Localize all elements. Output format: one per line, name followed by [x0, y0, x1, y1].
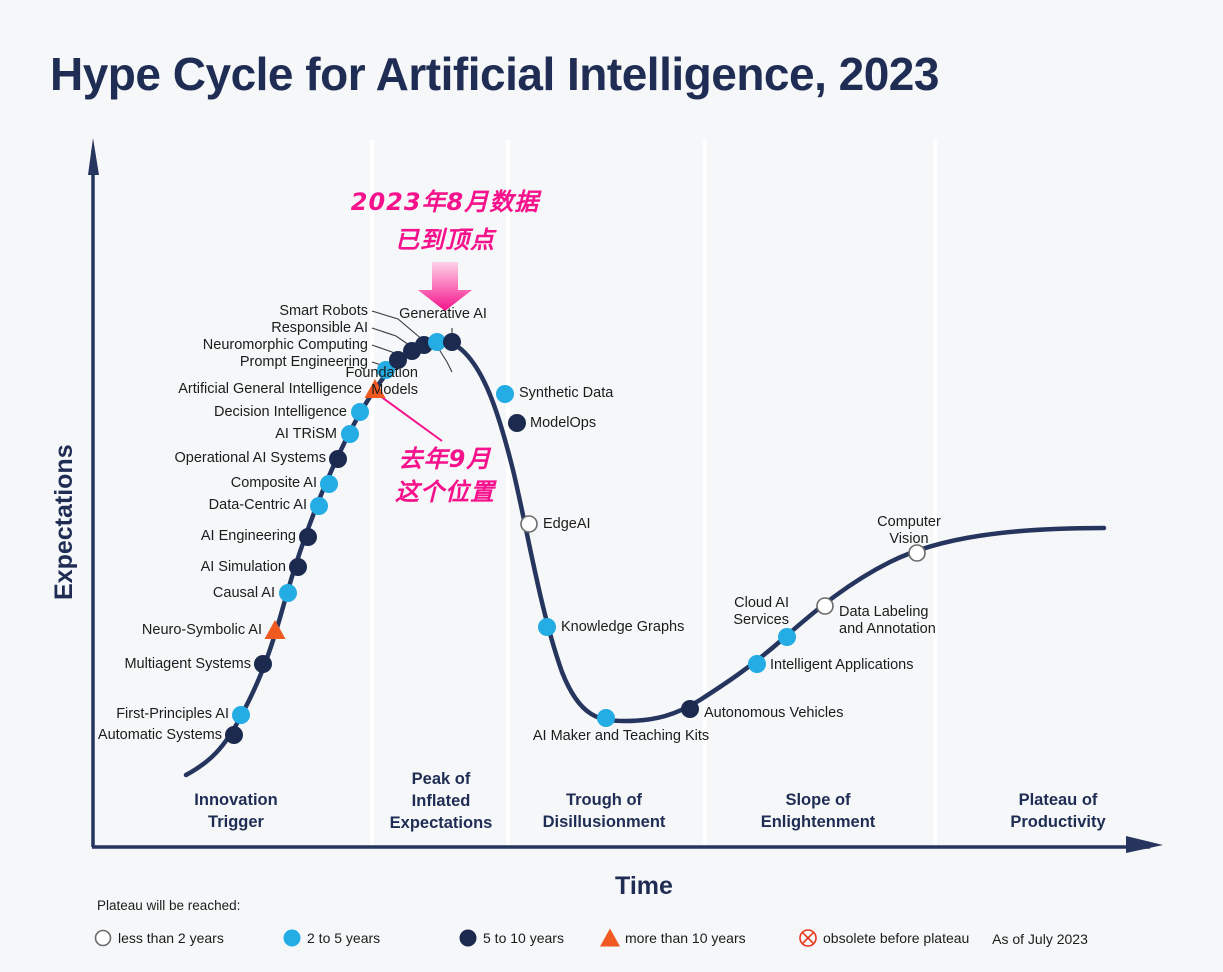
- marker-circle-cyan: [748, 655, 766, 673]
- data-point-label: AI Maker and Teaching Kits: [533, 728, 709, 744]
- data-point[interactable]: Automatic Systems: [98, 726, 243, 744]
- marker-circle-navy: [254, 655, 272, 673]
- marker-circle-navy: [443, 333, 461, 351]
- marker-circle-cyan: [538, 618, 556, 636]
- data-point[interactable]: AI Maker and Teaching Kits: [533, 709, 709, 744]
- legend-item-label: 2 to 5 years: [307, 930, 380, 946]
- data-point-label: ComputerVision: [877, 514, 941, 547]
- data-point-label: ModelOps: [530, 415, 596, 431]
- data-point[interactable]: Intelligent Applications: [748, 655, 914, 673]
- marker-circle-cyan: [597, 709, 615, 727]
- data-point[interactable]: Data Labelingand Annotation: [817, 598, 936, 637]
- data-point-label: Data Labelingand Annotation: [839, 604, 936, 637]
- data-point-label: Neuromorphic Computing: [203, 337, 368, 353]
- data-point[interactable]: EdgeAI: [521, 516, 591, 532]
- data-point[interactable]: Operational AI Systems: [174, 450, 347, 468]
- data-point-label: AI Engineering: [201, 528, 296, 544]
- marker-circle-open: [909, 545, 925, 561]
- data-point-label: Synthetic Data: [519, 385, 614, 401]
- annotation-agi: 去年9月 这个位置: [376, 393, 497, 506]
- legend-item[interactable]: 5 to 10 years: [460, 930, 564, 947]
- phase-label: Peak ofInflatedExpectations: [390, 770, 493, 832]
- phase-label: Plateau ofProductivity: [1010, 791, 1106, 831]
- data-point-label: AI TRiSM: [275, 426, 337, 442]
- data-point[interactable]: Causal AI: [213, 584, 297, 602]
- agi-note-line1: 去年9月: [399, 445, 492, 473]
- marker-triangle-orange: [265, 620, 286, 639]
- phase-label: Trough ofDisillusionment: [543, 791, 666, 831]
- data-point-label: Decision Intelligence: [214, 404, 347, 420]
- data-points-layer: Automatic SystemsFirst-Principles AIMult…: [98, 303, 941, 744]
- agi-note-line2: 这个位置: [395, 478, 497, 506]
- marker-circle-cyan: [351, 403, 369, 421]
- marker-circle-open: [521, 516, 537, 532]
- x-axis: [92, 836, 1163, 853]
- data-point-label: First-Principles AI: [116, 706, 229, 722]
- marker-circle-cyan: [341, 425, 359, 443]
- legend-item-label: less than 2 years: [118, 930, 224, 946]
- marker-circle-cyan: [232, 706, 250, 724]
- data-point[interactable]: Knowledge Graphs: [538, 618, 684, 636]
- legend-heading: Plateau will be reached:: [97, 898, 240, 913]
- data-point-label: Intelligent Applications: [770, 657, 914, 673]
- legend-item[interactable]: 2 to 5 years: [284, 930, 381, 947]
- data-point[interactable]: AI TRiSM: [275, 425, 359, 443]
- data-point-label: Multiagent Systems: [124, 656, 251, 672]
- agi-leader-line: [376, 393, 442, 441]
- data-point-label: Cloud AIServices: [733, 595, 789, 628]
- y-axis-title: Expectations: [50, 444, 78, 600]
- marker-circle-navy: [289, 558, 307, 576]
- annotation-peak: 2023年8月数据 已到顶点: [351, 188, 542, 311]
- phase-label: Slope ofEnlightenment: [761, 791, 876, 831]
- data-point[interactable]: Multiagent Systems: [124, 655, 272, 673]
- x-axis-title: Time: [615, 872, 673, 900]
- marker-circle-navy: [225, 726, 243, 744]
- obsolete-icon: [800, 930, 816, 946]
- data-point-label: Responsible AI: [271, 320, 368, 336]
- data-point[interactable]: Neuro-Symbolic AI: [142, 620, 286, 639]
- data-point[interactable]: Synthetic Data: [496, 385, 614, 403]
- marker-circle-navy: [681, 700, 699, 718]
- marker-circle-navy: [508, 414, 526, 432]
- data-point[interactable]: Decision Intelligence: [214, 403, 369, 421]
- marker-circle-navy: [329, 450, 347, 468]
- peak-note-line2: 已到顶点: [395, 226, 497, 254]
- data-point-label: Autonomous Vehicles: [704, 705, 843, 721]
- as-of-date: As of July 2023: [992, 931, 1088, 947]
- marker-circle-cyan: [320, 475, 338, 493]
- phase-labels: InnovationTriggerPeak ofInflatedExpectat…: [194, 770, 1106, 832]
- data-point-label: AI Simulation: [201, 559, 286, 575]
- data-point-label: Generative AI: [399, 306, 487, 322]
- data-point-label: Composite AI: [231, 475, 317, 491]
- data-point[interactable]: Artificial General Intelligence: [178, 379, 385, 398]
- data-point-label: Data-Centric AI: [209, 497, 307, 513]
- data-point-label: Automatic Systems: [98, 727, 222, 743]
- marker-triangle-orange: [600, 929, 620, 947]
- legend-item[interactable]: obsolete before plateau: [800, 930, 969, 946]
- marker-circle-cyan: [310, 497, 328, 515]
- data-point[interactable]: ModelOps: [508, 414, 596, 432]
- data-point[interactable]: ComputerVision: [877, 514, 941, 561]
- marker-circle-cyan: [496, 385, 514, 403]
- data-point[interactable]: Data-Centric AI: [209, 497, 328, 515]
- legend: Plateau will be reached: less than 2 yea…: [96, 898, 1089, 947]
- legend-item-label: 5 to 10 years: [483, 930, 564, 946]
- data-point-label: Neuro-Symbolic AI: [142, 622, 262, 638]
- hype-cycle-chart: Expectations Time 2023年8月数据 已到顶点 去年9月 这个…: [0, 0, 1223, 972]
- data-point-label: EdgeAI: [543, 516, 591, 532]
- legend-item[interactable]: less than 2 years: [96, 930, 224, 946]
- marker-circle-cyan: [778, 628, 796, 646]
- down-arrow-icon: [418, 262, 472, 311]
- marker-circle-navy: [299, 528, 317, 546]
- data-point-label: Operational AI Systems: [174, 450, 326, 466]
- marker-circle-cyan: [279, 584, 297, 602]
- data-point-label: Artificial General Intelligence: [178, 381, 362, 397]
- data-point-label: Causal AI: [213, 585, 275, 601]
- marker-circle-navy: [460, 930, 477, 947]
- legend-item-label: more than 10 years: [625, 930, 746, 946]
- marker-circle-open: [817, 598, 833, 614]
- data-point[interactable]: First-Principles AI: [116, 706, 250, 724]
- data-point[interactable]: AI Engineering: [201, 528, 317, 546]
- marker-circle-open: [96, 931, 111, 946]
- peak-note-line1: 2023年8月数据: [351, 188, 542, 216]
- data-point-label: Knowledge Graphs: [561, 619, 684, 635]
- phase-label: InnovationTrigger: [194, 791, 277, 831]
- marker-circle-cyan: [284, 930, 301, 947]
- legend-item-label: obsolete before plateau: [823, 930, 969, 946]
- data-point[interactable]: Cloud AIServices: [733, 595, 796, 646]
- data-point-label: Smart Robots: [279, 303, 368, 319]
- legend-item[interactable]: more than 10 years: [600, 929, 746, 947]
